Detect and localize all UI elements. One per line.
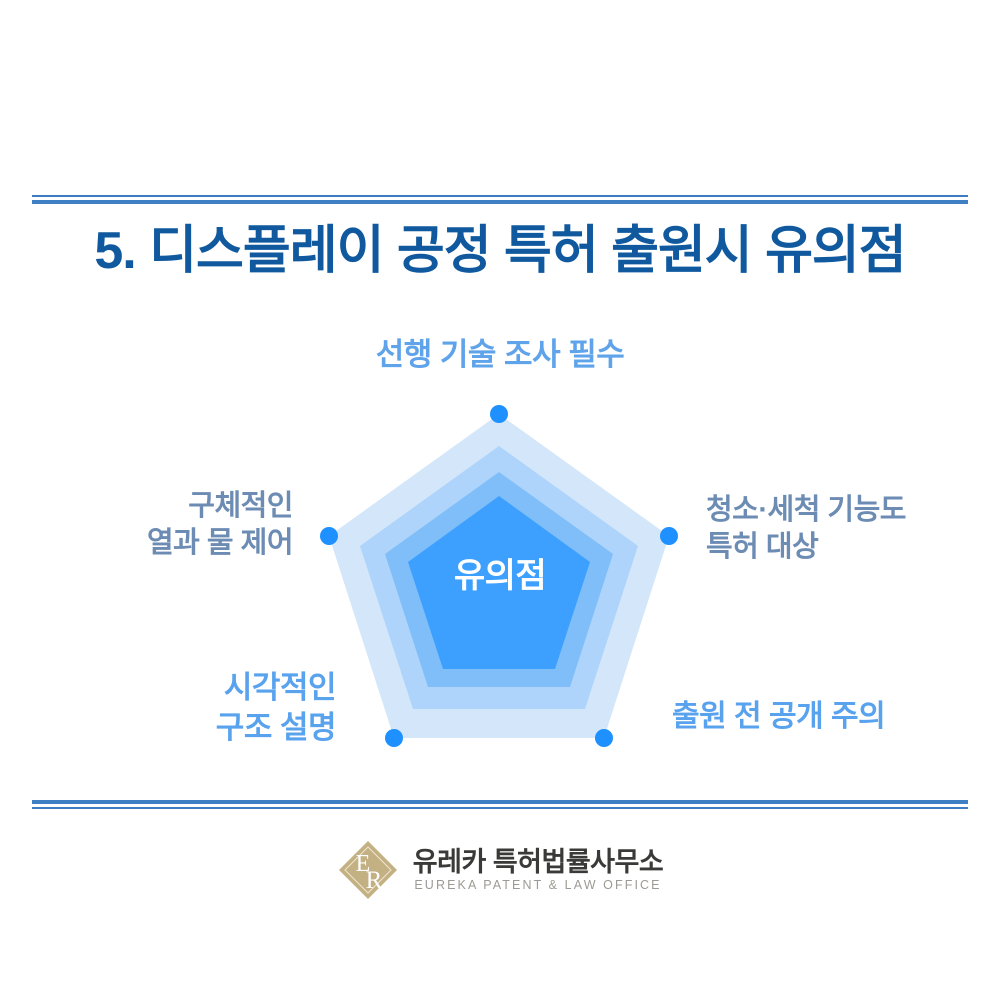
node-label-top: 선행 기술 조사 필수 [0, 335, 1000, 375]
footer-logo: E R 유레카 특허법률사무소 EUREKA PATENT & LAW OFFI… [0, 830, 1000, 910]
bottom-divider-thin-line [32, 807, 968, 809]
node-label-left-line-1: 구체적인 [147, 488, 293, 525]
node-label-bottom-right-line-1: 출원 전 공개 주의 [672, 698, 885, 736]
vertex-dot-left [320, 527, 338, 545]
vertex-dot-right [660, 527, 678, 545]
vertex-dot-bottom-left [385, 729, 403, 747]
node-label-bottom-right: 출원 전 공개 주의 [672, 698, 885, 736]
node-label-bottom-left: 시각적인 구조 설명 [216, 668, 336, 747]
node-label-left-line-2: 열과 물 제어 [147, 525, 293, 562]
node-label-bottom-left-line-1: 시각적인 [216, 668, 336, 708]
node-label-left: 구체적인 열과 물 제어 [147, 488, 293, 562]
logo-name-ko: 유레카 특허법률사무소 [413, 849, 663, 876]
node-label-bottom-left-line-2: 구조 설명 [216, 708, 336, 748]
bottom-divider-thick-line [32, 800, 968, 804]
vertex-dot-bottom-right [595, 729, 613, 747]
logo-monogram-r: R [365, 867, 382, 894]
vertex-dot-top [490, 405, 508, 423]
logo-name-en: EUREKA PATENT & LAW OFFICE [414, 879, 661, 892]
page-title: 5. 디스플레이 공정 특허 출원시 유의점 [0, 222, 1000, 282]
node-label-right-line-1: 청소·세척 기능도 [706, 492, 906, 529]
logo-text-block: 유레카 특허법률사무소 EUREKA PATENT & LAW OFFICE [413, 849, 663, 892]
logo-diamond-svg: E R [337, 839, 399, 901]
logo-diamond-icon: E R [337, 839, 399, 901]
node-label-top-line-1: 선행 기술 조사 필수 [0, 335, 1000, 375]
top-divider-thin-line [32, 195, 968, 197]
node-label-right: 청소·세척 기능도 특허 대상 [706, 492, 906, 566]
node-label-right-line-2: 특허 대상 [706, 529, 906, 566]
top-divider-thick-line [32, 200, 968, 204]
pentagon-diagram: 유의점 선행 기술 조사 필수 청소·세척 기능도 특허 대상 출원 전 공개 … [0, 300, 1000, 800]
slide-canvas: 5. 디스플레이 공정 특허 출원시 유의점 유의점 선행 기술 조사 필수 청… [0, 0, 1000, 1000]
